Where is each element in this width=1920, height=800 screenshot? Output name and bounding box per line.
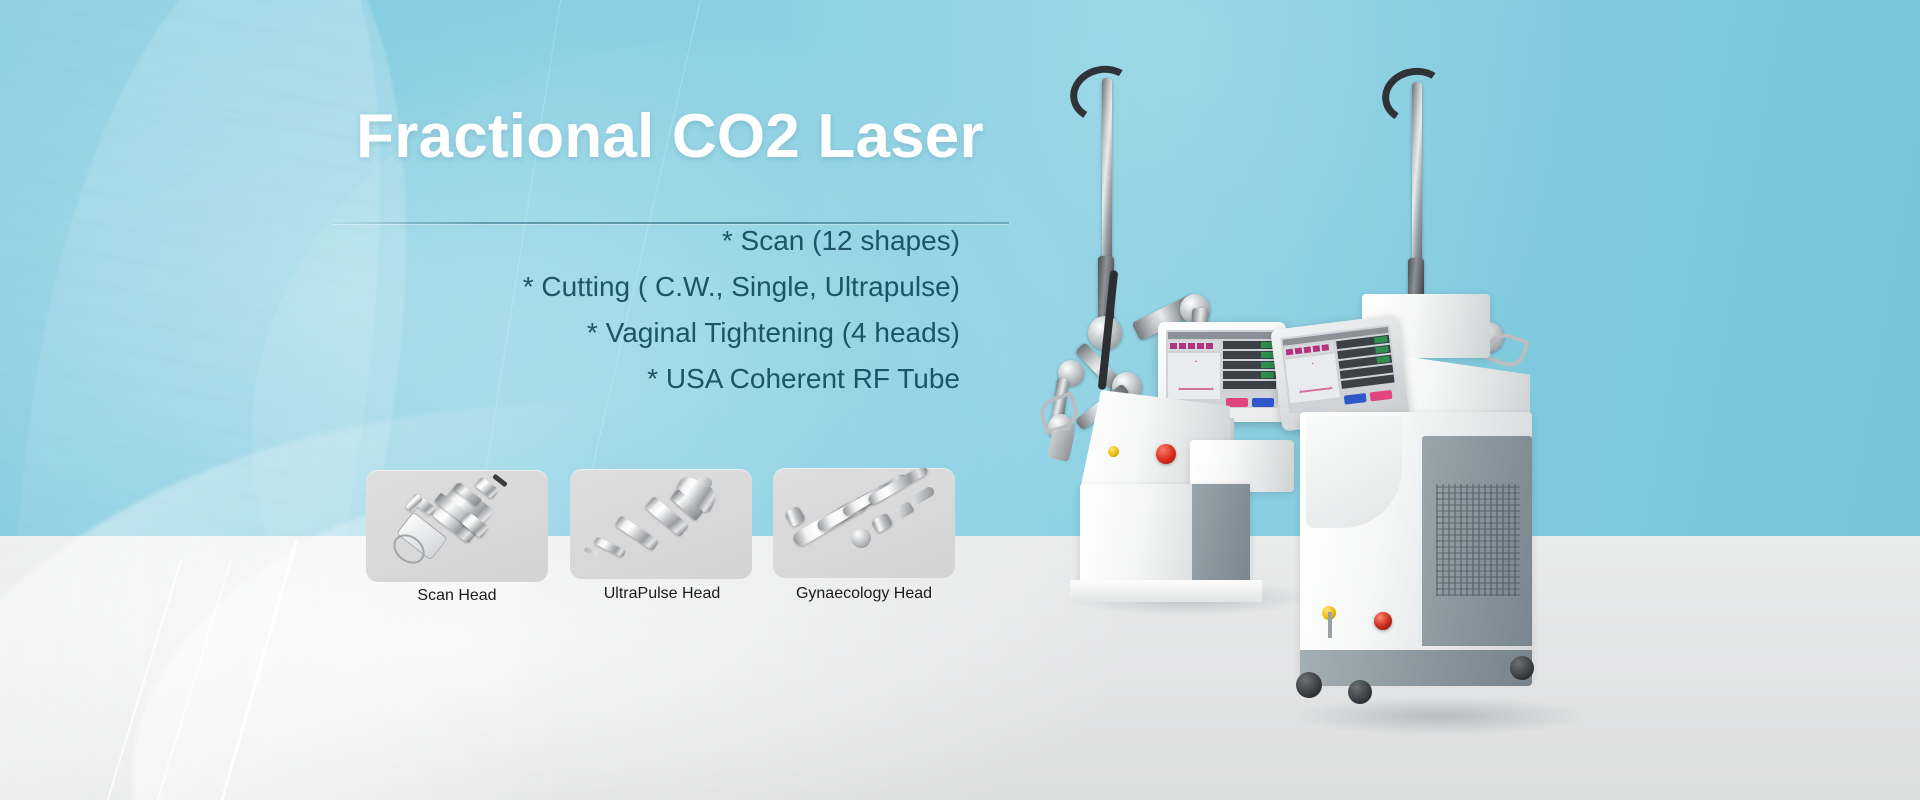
accessory-label: Gynaecology Head [754, 585, 974, 603]
feature-item: * Scan (12 shapes) [380, 218, 960, 264]
sky-background [0, 0, 1920, 536]
accessory-label: UltraPulse Head [552, 585, 772, 603]
product-banner: Fractional CO2 Laser * Scan (12 shapes) … [0, 0, 1920, 800]
accessory-label: Scan Head [347, 587, 567, 605]
accessory-card-ultrapulse-head[interactable] [570, 469, 752, 579]
accessory-card-list: Scan Head UltraPulse Head Gynaecology He… [366, 470, 966, 620]
scan-head-icon [366, 470, 548, 582]
accessory-card-scan-head[interactable] [366, 470, 548, 582]
feature-list: * Scan (12 shapes) * Cutting ( C.W., Sin… [380, 218, 960, 402]
page-title: Fractional CO2 Laser [330, 104, 1010, 169]
feature-item: * Vaginal Tightening (4 heads) [380, 310, 960, 356]
feature-item: * USA Coherent RF Tube [380, 356, 960, 402]
gynaecology-head-icon [773, 468, 955, 578]
feature-item: * Cutting ( C.W., Single, Ultrapulse) [380, 264, 960, 310]
product-image-trolley-laser [1270, 60, 1600, 740]
accessory-card-gynaecology-head[interactable] [773, 468, 955, 578]
ultrapulse-head-icon [570, 469, 752, 579]
